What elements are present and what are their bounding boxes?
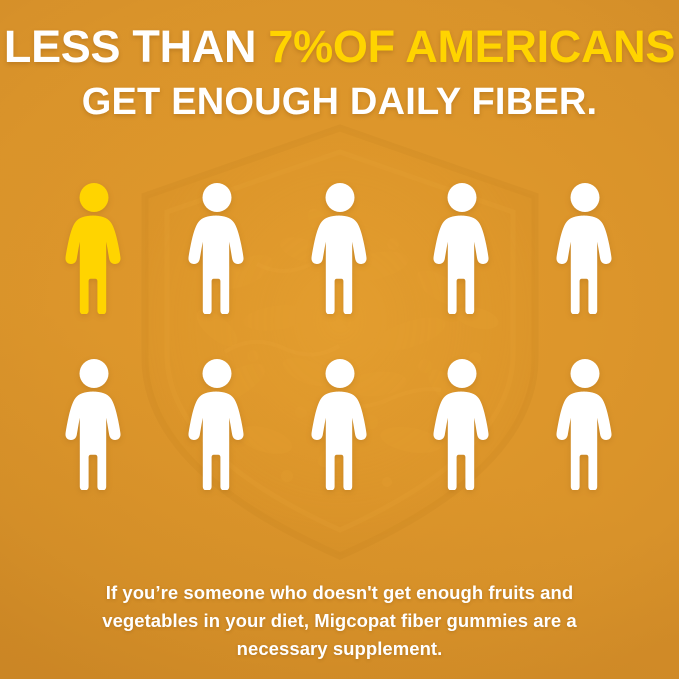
person-icon <box>426 358 498 490</box>
person-icon <box>304 358 376 490</box>
person-icon <box>426 182 498 314</box>
fiber-infographic: LESS THAN 7%OF AMERICANS GET ENOUGH DAIL… <box>0 0 679 679</box>
pictogram-row-2 <box>58 358 621 490</box>
person-icon <box>549 182 621 314</box>
headline-percent-highlight: 7%OF AMERICANS <box>268 21 675 72</box>
person-icon <box>181 182 253 314</box>
person-icon <box>549 358 621 490</box>
headline-prefix: LESS THAN <box>4 21 269 72</box>
person-icon <box>304 182 376 314</box>
person-icon <box>181 358 253 490</box>
pictogram-row-1 <box>58 182 621 314</box>
page-title: LESS THAN 7%OF AMERICANS GET ENOUGH DAIL… <box>0 24 679 121</box>
person-icon-highlighted <box>58 182 130 314</box>
pictogram-chart <box>58 182 621 490</box>
footer-paragraph: If you’re someone who doesn't get enough… <box>62 579 617 663</box>
headline-line-2: GET ENOUGH DAILY FIBER. <box>0 83 679 121</box>
person-icon <box>58 358 130 490</box>
headline-line-1: LESS THAN 7%OF AMERICANS <box>0 24 679 69</box>
